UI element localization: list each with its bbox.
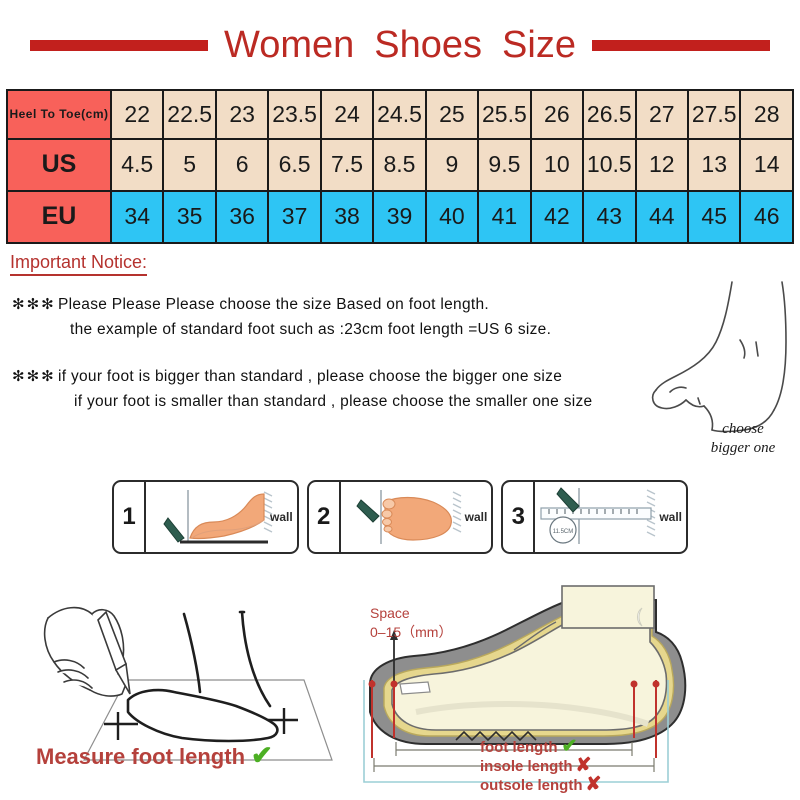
cell-us-3: 6.5 — [268, 139, 320, 191]
step-3: 3 — [501, 480, 688, 554]
step-1: 1 wall — [112, 480, 299, 554]
notice-block: ✻✻✻Please Please Please choose the size … — [12, 292, 682, 436]
cell-cm-5: 24.5 — [373, 90, 425, 139]
title-word-shoes: Shoes — [374, 24, 482, 66]
step-1-wall-label: wall — [270, 510, 293, 524]
cell-us-1: 5 — [163, 139, 215, 191]
cell-us-8: 10 — [531, 139, 583, 191]
step-2-wall-label: wall — [465, 510, 488, 524]
space-label-line2: 0–15（mm） — [370, 623, 452, 642]
step-3-illustration: 11.5CM wall — [535, 482, 686, 552]
cell-us-10: 12 — [636, 139, 688, 191]
title-word-size: Size — [502, 24, 576, 66]
cell-cm-6: 25 — [426, 90, 478, 139]
green-check-icon-foot: ✔ — [561, 736, 577, 757]
table-row-heel-to-toe: Heel To Toe(cm) 22 22.5 23 23.5 24 24.5 … — [7, 90, 793, 139]
cell-eu-3: 37 — [268, 191, 320, 243]
row-label-eu: EU — [7, 191, 111, 243]
cell-cm-10: 27 — [636, 90, 688, 139]
cell-cm-4: 24 — [321, 90, 373, 139]
insole-length-text: insole length — [480, 758, 573, 775]
table-row-us: US 4.5 5 6 6.5 7.5 8.5 9 9.5 10 10.5 12 … — [7, 139, 793, 191]
cell-us-5: 8.5 — [373, 139, 425, 191]
cell-us-12: 14 — [740, 139, 793, 191]
cell-eu-5: 39 — [373, 191, 425, 243]
cell-eu-12: 46 — [740, 191, 793, 243]
cell-cm-7: 25.5 — [478, 90, 530, 139]
asterisk-bullet-icon: ✻✻✻ — [12, 292, 58, 317]
cell-cm-8: 26 — [531, 90, 583, 139]
measurement-steps: 1 wall 2 — [112, 480, 688, 554]
notice-paragraph-1: ✻✻✻Please Please Please choose the size … — [12, 292, 682, 342]
notice-paragraph-2: ✻✻✻if your foot is bigger than standard … — [12, 364, 682, 414]
cell-us-9: 10.5 — [583, 139, 635, 191]
cell-eu-10: 44 — [636, 191, 688, 243]
outsole-length-text: outsole length — [480, 777, 583, 794]
cell-eu-9: 43 — [583, 191, 635, 243]
important-notice-heading: Important Notice: — [10, 252, 147, 276]
measure-foot-length-caption: Measure foot length✔ — [36, 740, 273, 771]
cell-cm-0: 22 — [111, 90, 163, 139]
cell-cm-9: 26.5 — [583, 90, 635, 139]
step-2: 2 wall — [307, 480, 494, 554]
cell-cm-12: 28 — [740, 90, 793, 139]
length-legend: foot length✔ insole length✘ outsole leng… — [480, 738, 601, 795]
cell-eu-6: 40 — [426, 191, 478, 243]
title-bar-right — [592, 40, 770, 51]
cell-eu-11: 45 — [688, 191, 740, 243]
step-3-number: 3 — [503, 482, 535, 552]
choose-bigger-one-label: choose bigger one — [688, 420, 798, 458]
page-title-row: WomenShoesSize — [0, 20, 800, 70]
space-label-line1: Space — [370, 604, 452, 623]
cell-eu-7: 41 — [478, 191, 530, 243]
row-label-heel-to-toe: Heel To Toe(cm) — [7, 90, 111, 139]
cell-cm-3: 23.5 — [268, 90, 320, 139]
cell-cm-11: 27.5 — [688, 90, 740, 139]
measure-caption-text: Measure foot length — [36, 744, 245, 769]
space-measurement-label: Space 0–15（mm） — [370, 604, 452, 642]
step-3-ruler-value: 11.5CM — [553, 529, 574, 535]
cell-us-11: 13 — [688, 139, 740, 191]
cell-cm-2: 23 — [216, 90, 268, 139]
choose-bigger-line2: bigger one — [711, 440, 776, 456]
cell-us-0: 4.5 — [111, 139, 163, 191]
choose-bigger-line1: choose — [722, 421, 764, 437]
notice-p1-line2: the example of standard foot such as :23… — [12, 317, 682, 342]
cell-eu-8: 42 — [531, 191, 583, 243]
red-x-icon-insole: ✘ — [576, 755, 592, 776]
cell-us-6: 9 — [426, 139, 478, 191]
size-chart-table: Heel To Toe(cm) 22 22.5 23 23.5 24 24.5 … — [6, 89, 794, 244]
notice-p2-line1: if your foot is bigger than standard , p… — [58, 368, 562, 385]
cell-us-2: 6 — [216, 139, 268, 191]
cell-us-4: 7.5 — [321, 139, 373, 191]
insole-length-legend: insole length✘ — [480, 757, 601, 776]
notice-p1-line1: Please Please Please choose the size Bas… — [58, 296, 489, 313]
outsole-length-legend: outsole length✘ — [480, 776, 601, 795]
step-2-illustration: wall — [341, 482, 492, 552]
cell-eu-2: 36 — [216, 191, 268, 243]
table-row-eu: EU 34 35 36 37 38 39 40 41 42 43 44 45 4… — [7, 191, 793, 243]
page-title: WomenShoesSize — [214, 26, 586, 64]
green-check-icon: ✔ — [251, 740, 273, 770]
red-x-icon-outsole: ✘ — [586, 774, 602, 795]
title-bar-left — [30, 40, 208, 51]
row-label-us: US — [7, 139, 111, 191]
cell-cm-1: 22.5 — [163, 90, 215, 139]
cell-eu-4: 38 — [321, 191, 373, 243]
asterisk-bullet-icon-2: ✻✻✻ — [12, 364, 58, 389]
foot-length-text: foot length — [480, 739, 557, 756]
step-1-illustration: wall — [146, 482, 297, 552]
step-1-number: 1 — [114, 482, 146, 552]
cell-eu-0: 34 — [111, 191, 163, 243]
title-word-women: Women — [224, 24, 354, 66]
step-2-number: 2 — [309, 482, 341, 552]
notice-p2-line2: if your foot is smaller than standard , … — [12, 389, 682, 414]
step-3-wall-label: wall — [659, 510, 682, 524]
cell-us-7: 9.5 — [478, 139, 530, 191]
cell-eu-1: 35 — [163, 191, 215, 243]
